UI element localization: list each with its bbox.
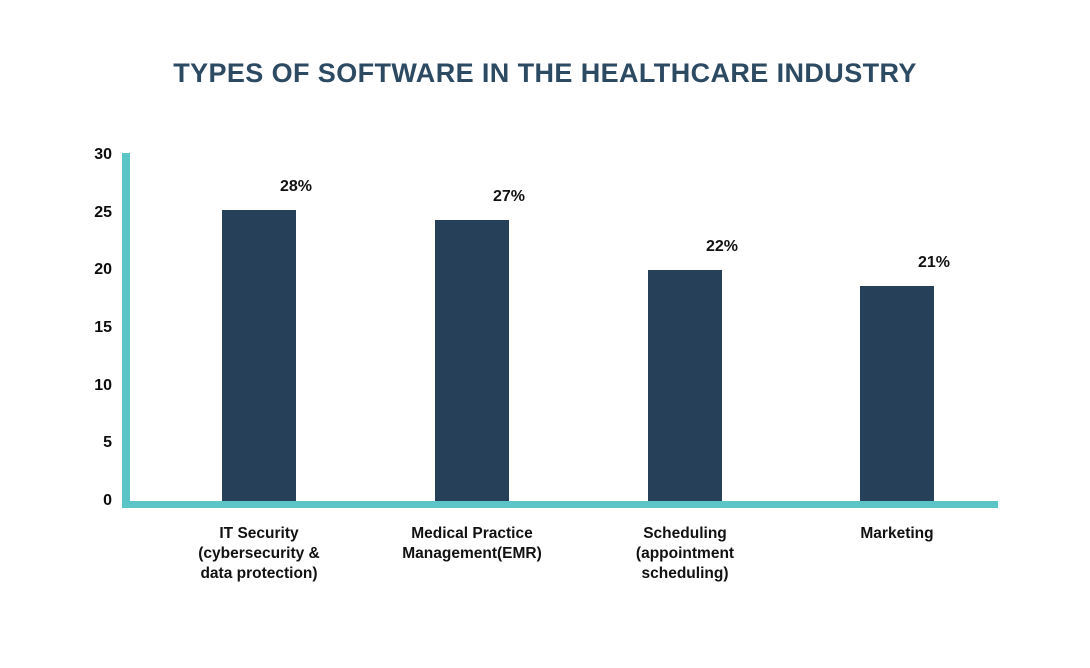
y-tick-label: 15 xyxy=(78,320,112,336)
bar-value-label: 21% xyxy=(857,254,1011,272)
category-label-line: scheduling) xyxy=(570,564,800,584)
y-tick-label: 5 xyxy=(78,435,112,451)
category-label-line: IT Security xyxy=(144,524,374,544)
category-label: Scheduling(appointmentscheduling) xyxy=(570,524,800,584)
chart-title: TYPES OF SOFTWARE IN THE HEALTHCARE INDU… xyxy=(0,58,1090,89)
y-tick-label: 20 xyxy=(78,262,112,278)
category-label: IT Security(cybersecurity &data protecti… xyxy=(144,524,374,584)
category-label: Medical PracticeManagement(EMR) xyxy=(357,524,587,564)
plot-area: 28%27%22%21% xyxy=(122,155,998,501)
bar[interactable] xyxy=(648,270,722,501)
bar[interactable] xyxy=(222,210,296,501)
x-axis-line xyxy=(122,501,998,508)
bar-group: 27% xyxy=(472,155,473,501)
bar-value-label: 22% xyxy=(645,238,799,256)
category-label-line: Scheduling xyxy=(570,524,800,544)
y-tick-label: 25 xyxy=(78,205,112,221)
bar[interactable] xyxy=(435,220,509,501)
bar-value-label: 27% xyxy=(432,188,586,206)
y-tick-label: 0 xyxy=(78,493,112,509)
category-label: Marketing xyxy=(782,524,1012,544)
y-axis-tick-labels: 051015202530 xyxy=(72,0,112,668)
category-label-line: Medical Practice xyxy=(357,524,587,544)
y-tick-label: 30 xyxy=(78,147,112,163)
bar-value-label: 28% xyxy=(219,178,373,196)
category-label-line: Marketing xyxy=(782,524,1012,544)
bar[interactable] xyxy=(860,286,934,501)
bar-group: 28% xyxy=(259,155,260,501)
category-label-line: (appointment xyxy=(570,544,800,564)
bar-chart-figure: TYPES OF SOFTWARE IN THE HEALTHCARE INDU… xyxy=(0,0,1090,668)
bar-group: 21% xyxy=(897,155,898,501)
category-label-line: data protection) xyxy=(144,564,374,584)
y-tick-label: 10 xyxy=(78,378,112,394)
bar-group: 22% xyxy=(685,155,686,501)
category-label-line: (cybersecurity & xyxy=(144,544,374,564)
x-axis-category-labels: IT Security(cybersecurity &data protecti… xyxy=(122,524,998,644)
category-label-line: Management(EMR) xyxy=(357,544,587,564)
